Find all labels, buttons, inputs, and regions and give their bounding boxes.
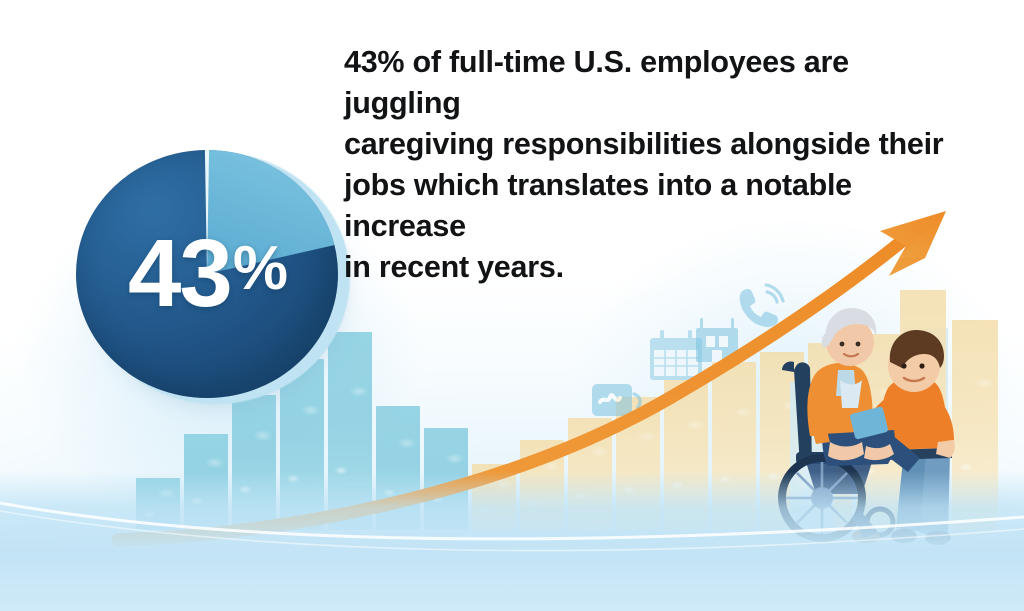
headline-text: 43% of full-time U.S. employees are jugg… [344,42,954,288]
pie-value-number: 43 [128,226,231,322]
pie-chart: 43 % [76,150,358,406]
infographic-canvas: 43 % 43% of full-time U.S. employees are… [0,0,1024,611]
pie-value-label: 43 % [76,150,338,398]
ground-swoosh-line [0,451,1024,611]
pie-percent-symbol: % [233,238,286,300]
